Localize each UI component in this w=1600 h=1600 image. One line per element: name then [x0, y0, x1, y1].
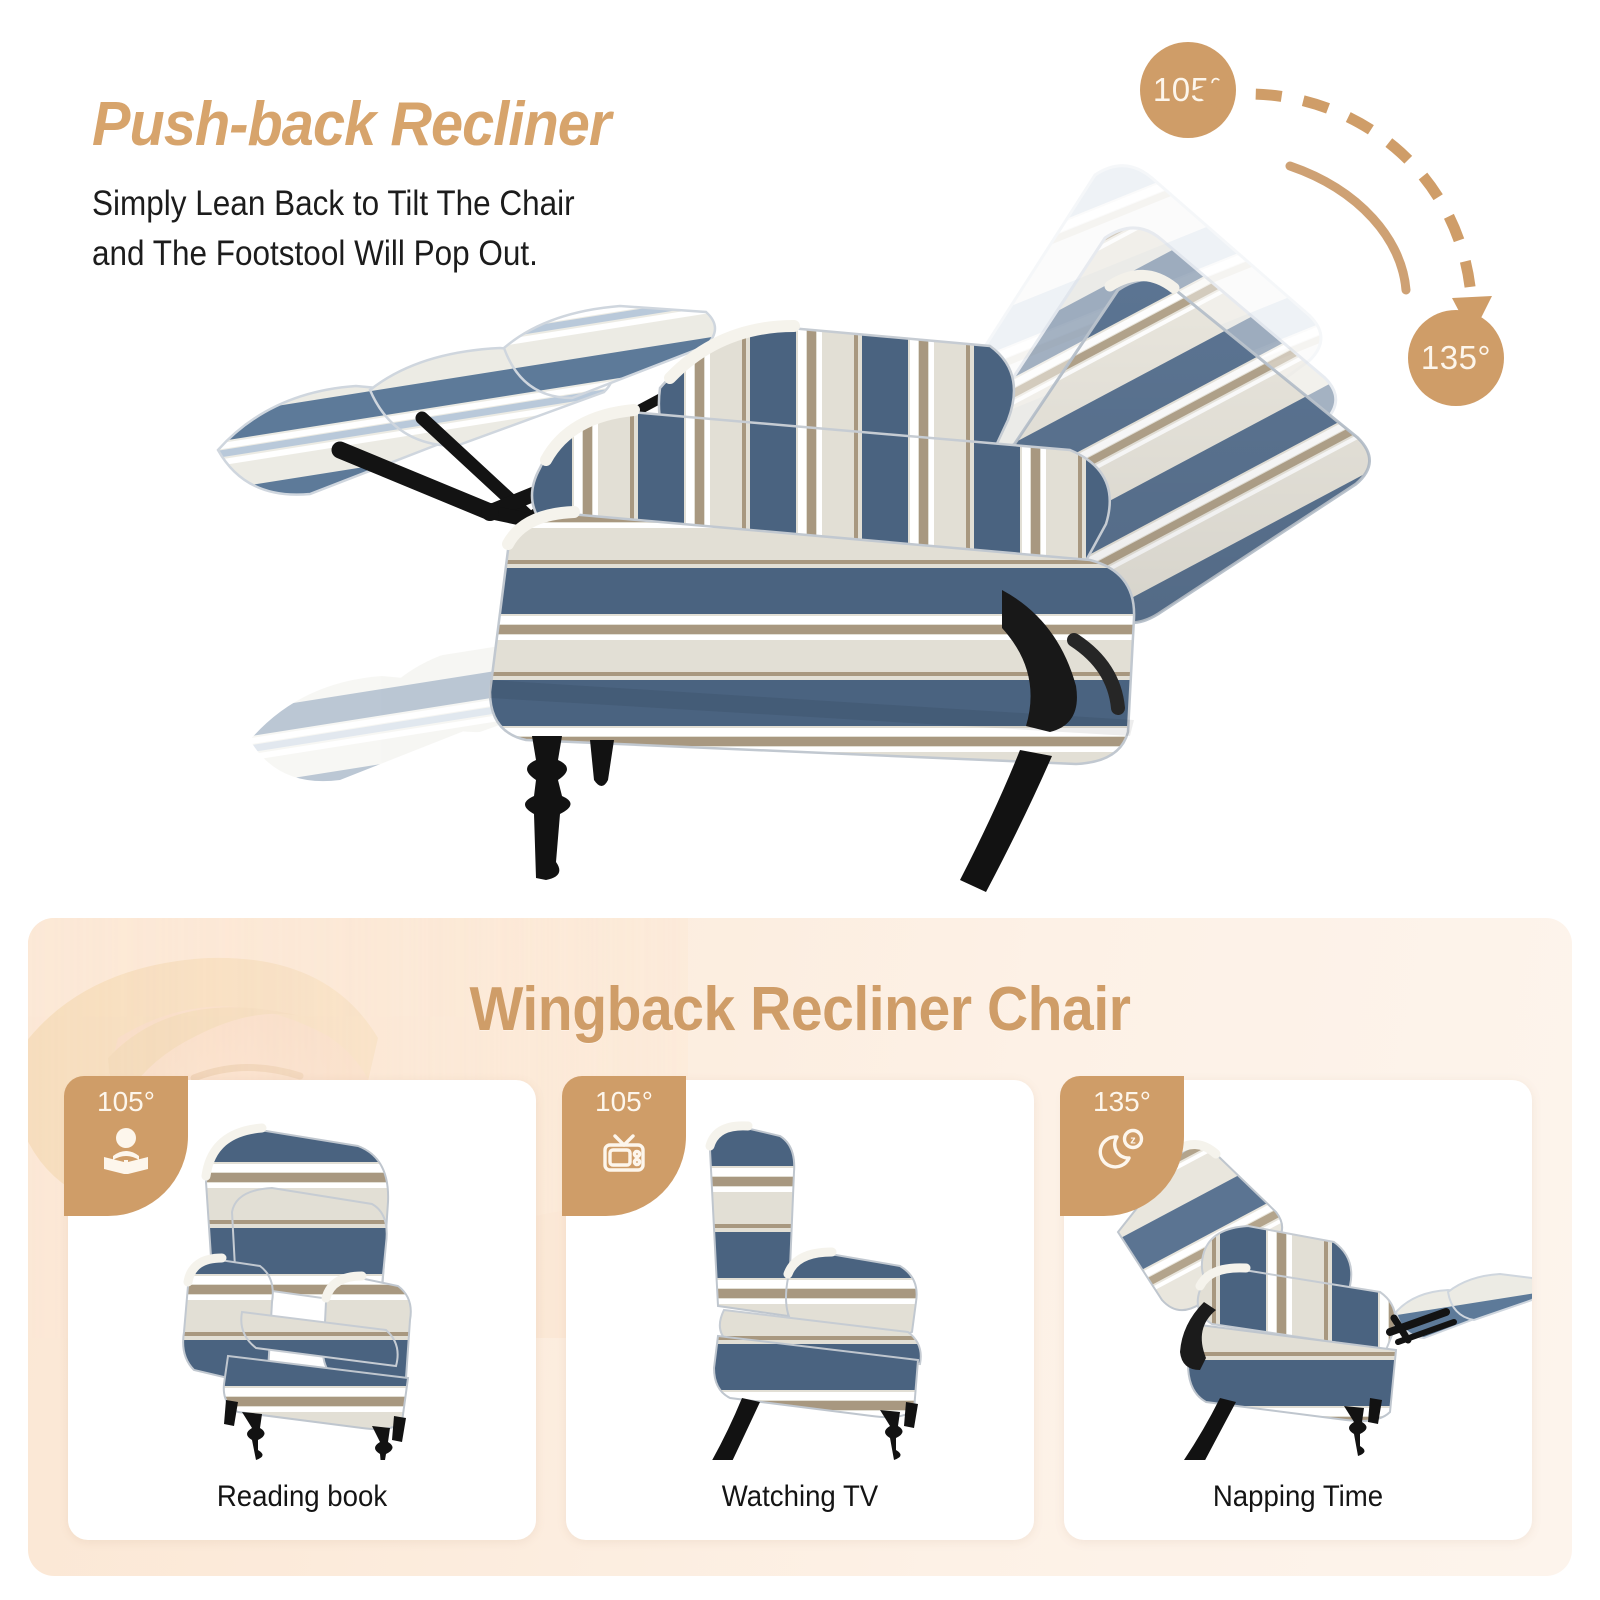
angle-badge-105: 105°: [1140, 42, 1236, 138]
person-reading-book-icon: [99, 1124, 153, 1178]
angle-badge-105-label: 105°: [1153, 71, 1223, 109]
scenario-card-napping-time[interactable]: 135° z: [1064, 1080, 1532, 1540]
crescent-moon-sleep-icon: z: [1095, 1124, 1149, 1178]
angle-badge-135: 135°: [1408, 310, 1504, 406]
card-angle-label: 105°: [97, 1088, 155, 1116]
card-angle-label: 135°: [1093, 1088, 1151, 1116]
scenario-cards-row: 105°: [68, 1080, 1532, 1540]
card-caption: Watching TV: [585, 1480, 1016, 1514]
retro-tv-icon: [597, 1124, 651, 1178]
scenario-card-reading-book[interactable]: 105°: [68, 1080, 536, 1540]
angle-badge-135-label: 135°: [1421, 339, 1491, 377]
card-angle-label: 105°: [595, 1088, 653, 1116]
panel-heading: Wingback Recliner Chair: [90, 974, 1510, 1045]
usage-scenarios-panel: Wingback Recliner Chair 105°: [28, 918, 1572, 1576]
recliner-side-view-illustration: [190, 120, 1390, 900]
svg-text:z: z: [1130, 1135, 1136, 1147]
card-caption: Napping Time: [1083, 1480, 1514, 1514]
hero-section: Push-back Recliner Simply Lean Back to T…: [0, 0, 1600, 915]
scenario-card-watching-tv[interactable]: 105°: [566, 1080, 1034, 1540]
card-caption: Reading book: [87, 1480, 518, 1514]
